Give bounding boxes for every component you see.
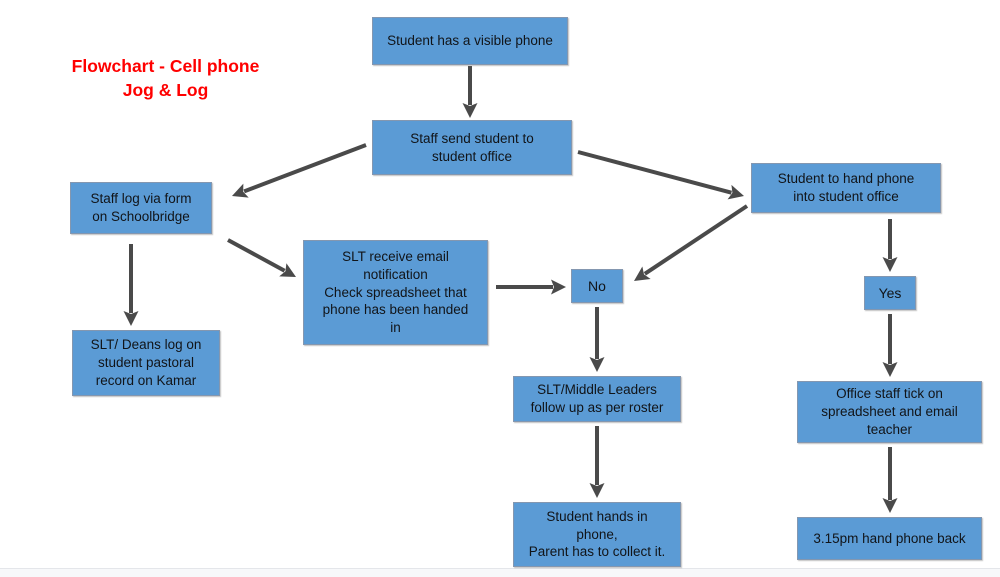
node-decision-no[interactable]: No <box>571 269 623 303</box>
node-slt-deans-log-kamar[interactable]: SLT/ Deans log on student pastoral recor… <box>72 330 220 396</box>
node-decision-yes[interactable]: Yes <box>864 276 916 310</box>
node-slt-middle-leaders-follow-up[interactable]: SLT/Middle Leaders follow up as per rost… <box>513 376 681 422</box>
node-office-staff-tick-spreadsheet[interactable]: Office staff tick on spreadsheet and ema… <box>797 381 982 443</box>
node-staff-log-via-form[interactable]: Staff log via form on Schoolbridge <box>70 182 212 234</box>
node-hand-phone-back[interactable]: 3.15pm hand phone back <box>797 517 982 560</box>
arrow-staff-send-to-staff-log <box>232 145 366 198</box>
arrow-slt-receive-email-to-no <box>496 280 566 295</box>
arrow-yes-to-office-staff-tick <box>883 314 898 377</box>
node-slt-receive-email-notification[interactable]: SLT receive email notification Check spr… <box>303 240 488 345</box>
bottom-strip <box>0 568 1000 577</box>
arrow-office-staff-to-hand-phone-back <box>883 447 898 513</box>
node-student-to-hand-phone[interactable]: Student to hand phone into student offic… <box>751 163 941 213</box>
arrow-no-to-middle-leaders <box>590 307 605 372</box>
flowchart-canvas: Flowchart - Cell phone Jog & Log Student… <box>0 0 1000 577</box>
page-title: Flowchart - Cell phone Jog & Log <box>63 55 268 102</box>
arrow-staff-send-to-hand-phone <box>578 152 744 199</box>
arrow-hand-phone-to-yes <box>883 219 898 272</box>
arrow-staff-log-to-slt-receive-email <box>228 240 296 277</box>
arrow-middle-leaders-to-student-hands-in <box>590 426 605 498</box>
node-staff-send-student-to-office[interactable]: Staff send student to student office <box>372 120 572 175</box>
node-student-has-visible-phone[interactable]: Student has a visible phone <box>372 17 568 65</box>
arrow-staff-log-to-slt-deans-log <box>124 244 139 326</box>
node-student-hands-in-phone[interactable]: Student hands in phone, Parent has to co… <box>513 502 681 567</box>
arrow-hand-phone-to-no <box>634 206 747 281</box>
arrow-visible-phone-to-staff-send <box>463 66 478 118</box>
